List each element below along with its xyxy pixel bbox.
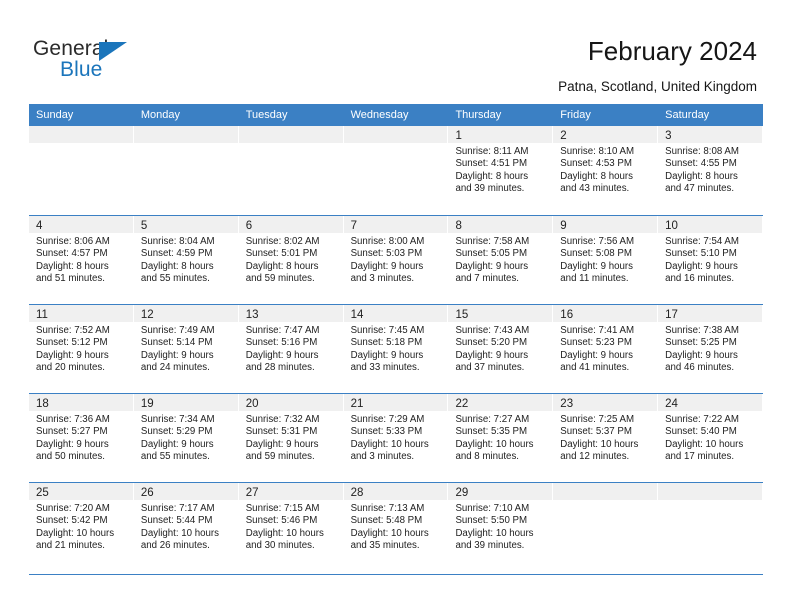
day-daylight-line1-text: Daylight: 10 hours (665, 439, 757, 451)
day-daylight-line1-text: Daylight: 9 hours (141, 350, 233, 362)
day-daylight-line2-text: and 26 minutes. (141, 540, 233, 552)
day-details: Sunrise: 7:15 AMSunset: 5:46 PMDaylight:… (239, 500, 343, 552)
day-number: 13 (246, 309, 259, 321)
day-number-band: 10 (658, 216, 762, 233)
day-details: Sunrise: 7:10 AMSunset: 5:50 PMDaylight:… (448, 500, 552, 552)
day-details: Sunrise: 7:34 AMSunset: 5:29 PMDaylight:… (134, 411, 238, 463)
day-number: 11 (36, 309, 48, 321)
day-number: 1 (455, 130, 461, 142)
day-number: 2 (560, 130, 566, 142)
calendar-day-cell[interactable]: 28Sunrise: 7:13 AMSunset: 5:48 PMDayligh… (344, 483, 449, 571)
day-number-band: 25 (29, 483, 133, 500)
calendar-day-cell-empty (553, 483, 658, 571)
day-daylight-line2-text: and 8 minutes. (455, 451, 547, 463)
day-sunrise-text: Sunrise: 7:41 AM (560, 325, 652, 337)
day-details: Sunrise: 7:43 AMSunset: 5:20 PMDaylight:… (448, 322, 552, 374)
calendar-page: General Blue February 2024 Patna, Scotla… (0, 0, 792, 612)
day-sunrise-text: Sunrise: 7:38 AM (665, 325, 757, 337)
day-daylight-line2-text: and 59 minutes. (246, 273, 338, 285)
day-daylight-line1-text: Daylight: 9 hours (560, 261, 652, 273)
day-number: 25 (36, 487, 49, 499)
day-daylight-line1-text: Daylight: 9 hours (665, 350, 757, 362)
day-sunset-text: Sunset: 5:16 PM (246, 337, 338, 349)
weekday-header-monday: Monday (134, 104, 239, 126)
day-daylight-line2-text: and 16 minutes. (665, 273, 757, 285)
calendar-day-cell[interactable]: 29Sunrise: 7:10 AMSunset: 5:50 PMDayligh… (448, 483, 553, 571)
day-sunrise-text: Sunrise: 7:54 AM (665, 236, 757, 248)
day-number-band: 11 (29, 305, 133, 322)
day-number-band (29, 126, 133, 143)
day-sunrise-text: Sunrise: 7:45 AM (351, 325, 443, 337)
day-sunset-text: Sunset: 5:37 PM (560, 426, 652, 438)
day-sunrise-text: Sunrise: 7:34 AM (141, 414, 233, 426)
day-sunrise-text: Sunrise: 7:29 AM (351, 414, 443, 426)
day-daylight-line1-text: Daylight: 8 hours (141, 261, 233, 273)
day-number-band: 19 (134, 394, 238, 411)
day-details: Sunrise: 8:11 AMSunset: 4:51 PMDaylight:… (448, 143, 552, 195)
calendar-day-cell[interactable]: 8Sunrise: 7:58 AMSunset: 5:05 PMDaylight… (448, 216, 553, 304)
calendar-day-cell[interactable]: 26Sunrise: 7:17 AMSunset: 5:44 PMDayligh… (134, 483, 239, 571)
day-number-band: 5 (134, 216, 238, 233)
day-sunset-text: Sunset: 5:50 PM (455, 515, 547, 527)
day-number-band: 3 (658, 126, 762, 143)
day-daylight-line2-text: and 28 minutes. (246, 362, 338, 374)
calendar-day-cell[interactable]: 18Sunrise: 7:36 AMSunset: 5:27 PMDayligh… (29, 394, 134, 482)
day-daylight-line2-text: and 12 minutes. (560, 451, 652, 463)
day-sunset-text: Sunset: 5:35 PM (455, 426, 547, 438)
day-number-band (239, 126, 343, 143)
day-number: 5 (141, 220, 147, 232)
logo-text-general: General (33, 38, 108, 60)
calendar-day-cell[interactable]: 23Sunrise: 7:25 AMSunset: 5:37 PMDayligh… (553, 394, 658, 482)
day-number: 22 (455, 398, 468, 410)
day-daylight-line2-text: and 46 minutes. (665, 362, 757, 374)
day-daylight-line1-text: Daylight: 9 hours (36, 350, 128, 362)
calendar-day-cell-empty (658, 483, 763, 571)
day-daylight-line2-text: and 21 minutes. (36, 540, 128, 552)
day-daylight-line2-text: and 7 minutes. (455, 273, 547, 285)
day-sunrise-text: Sunrise: 7:52 AM (36, 325, 128, 337)
day-sunrise-text: Sunrise: 8:02 AM (246, 236, 338, 248)
day-sunrise-text: Sunrise: 7:13 AM (351, 503, 443, 515)
day-details: Sunrise: 7:17 AMSunset: 5:44 PMDaylight:… (134, 500, 238, 552)
day-number-band: 9 (553, 216, 657, 233)
day-sunrise-text: Sunrise: 7:27 AM (455, 414, 547, 426)
day-number-band: 26 (134, 483, 238, 500)
calendar-day-cell[interactable]: 21Sunrise: 7:29 AMSunset: 5:33 PMDayligh… (344, 394, 449, 482)
calendar-day-cell[interactable]: 27Sunrise: 7:15 AMSunset: 5:46 PMDayligh… (239, 483, 344, 571)
calendar-weeks: 1Sunrise: 8:11 AMSunset: 4:51 PMDaylight… (29, 126, 763, 571)
day-sunrise-text: Sunrise: 8:10 AM (560, 146, 652, 158)
calendar-week-row: 4Sunrise: 8:06 AMSunset: 4:57 PMDaylight… (29, 215, 763, 304)
day-details: Sunrise: 7:47 AMSunset: 5:16 PMDaylight:… (239, 322, 343, 374)
day-daylight-line1-text: Daylight: 8 hours (455, 171, 547, 183)
day-details: Sunrise: 7:27 AMSunset: 5:35 PMDaylight:… (448, 411, 552, 463)
day-number: 27 (246, 487, 259, 499)
day-daylight-line2-text: and 3 minutes. (351, 273, 443, 285)
day-sunrise-text: Sunrise: 7:58 AM (455, 236, 547, 248)
calendar-day-cell[interactable]: 1Sunrise: 8:11 AMSunset: 4:51 PMDaylight… (448, 126, 553, 215)
day-daylight-line2-text: and 3 minutes. (351, 451, 443, 463)
day-sunrise-text: Sunrise: 8:06 AM (36, 236, 128, 248)
generalblue-logo[interactable]: General Blue (33, 38, 163, 84)
day-sunrise-text: Sunrise: 7:15 AM (246, 503, 338, 515)
day-sunset-text: Sunset: 5:01 PM (246, 248, 338, 260)
day-number-band: 12 (134, 305, 238, 322)
calendar-week-row: 11Sunrise: 7:52 AMSunset: 5:12 PMDayligh… (29, 304, 763, 393)
day-sunrise-text: Sunrise: 8:11 AM (455, 146, 547, 158)
calendar-day-cell-empty (344, 126, 449, 215)
calendar-week-row: 18Sunrise: 7:36 AMSunset: 5:27 PMDayligh… (29, 393, 763, 482)
day-daylight-line2-text: and 11 minutes. (560, 273, 652, 285)
page-subtitle: Patna, Scotland, United Kingdom (558, 79, 757, 94)
day-number: 28 (351, 487, 364, 499)
day-sunrise-text: Sunrise: 7:22 AM (665, 414, 757, 426)
day-daylight-line1-text: Daylight: 10 hours (36, 528, 128, 540)
day-daylight-line1-text: Daylight: 9 hours (246, 439, 338, 451)
day-sunrise-text: Sunrise: 8:08 AM (665, 146, 757, 158)
day-sunset-text: Sunset: 4:55 PM (665, 158, 757, 170)
day-number-band (553, 483, 657, 500)
day-sunset-text: Sunset: 5:31 PM (246, 426, 338, 438)
calendar-day-cell[interactable]: 19Sunrise: 7:34 AMSunset: 5:29 PMDayligh… (134, 394, 239, 482)
calendar-day-cell[interactable]: 12Sunrise: 7:49 AMSunset: 5:14 PMDayligh… (134, 305, 239, 393)
day-number-band: 6 (239, 216, 343, 233)
day-daylight-line1-text: Daylight: 9 hours (246, 350, 338, 362)
day-daylight-line2-text: and 35 minutes. (351, 540, 443, 552)
calendar-day-cell[interactable]: 3Sunrise: 8:08 AMSunset: 4:55 PMDaylight… (658, 126, 763, 215)
day-sunset-text: Sunset: 5:05 PM (455, 248, 547, 260)
day-daylight-line1-text: Daylight: 8 hours (560, 171, 652, 183)
day-daylight-line2-text: and 33 minutes. (351, 362, 443, 374)
day-details: Sunrise: 7:52 AMSunset: 5:12 PMDaylight:… (29, 322, 133, 374)
day-sunrise-text: Sunrise: 7:25 AM (560, 414, 652, 426)
day-daylight-line1-text: Daylight: 9 hours (455, 350, 547, 362)
calendar-day-cell[interactable]: 9Sunrise: 7:56 AMSunset: 5:08 PMDaylight… (553, 216, 658, 304)
day-daylight-line2-text: and 30 minutes. (246, 540, 338, 552)
day-daylight-line2-text: and 37 minutes. (455, 362, 547, 374)
day-number: 21 (351, 398, 364, 410)
day-daylight-line2-text: and 59 minutes. (246, 451, 338, 463)
weekday-header-friday: Friday (553, 104, 658, 126)
day-details: Sunrise: 8:08 AMSunset: 4:55 PMDaylight:… (658, 143, 762, 195)
day-sunset-text: Sunset: 5:20 PM (455, 337, 547, 349)
day-daylight-line1-text: Daylight: 9 hours (351, 350, 443, 362)
day-number: 29 (455, 487, 468, 499)
day-daylight-line2-text: and 17 minutes. (665, 451, 757, 463)
day-number: 14 (351, 309, 364, 321)
calendar-bottom-rule (29, 574, 763, 575)
day-details: Sunrise: 7:36 AMSunset: 5:27 PMDaylight:… (29, 411, 133, 463)
day-sunset-text: Sunset: 5:25 PM (665, 337, 757, 349)
day-number-band: 16 (553, 305, 657, 322)
day-number: 12 (141, 309, 154, 321)
calendar-week-row: 25Sunrise: 7:20 AMSunset: 5:42 PMDayligh… (29, 482, 763, 571)
day-number: 24 (665, 398, 678, 410)
day-sunset-text: Sunset: 5:27 PM (36, 426, 128, 438)
calendar-day-cell-empty (134, 126, 239, 215)
day-sunset-text: Sunset: 5:23 PM (560, 337, 652, 349)
day-daylight-line2-text: and 24 minutes. (141, 362, 233, 374)
day-details: Sunrise: 7:29 AMSunset: 5:33 PMDaylight:… (344, 411, 448, 463)
day-number-band: 2 (553, 126, 657, 143)
day-sunset-text: Sunset: 5:46 PM (246, 515, 338, 527)
calendar-day-cell[interactable]: 13Sunrise: 7:47 AMSunset: 5:16 PMDayligh… (239, 305, 344, 393)
day-sunset-text: Sunset: 5:40 PM (665, 426, 757, 438)
day-sunset-text: Sunset: 5:29 PM (141, 426, 233, 438)
day-number: 7 (351, 220, 357, 232)
calendar-day-cell-empty (239, 126, 344, 215)
day-details: Sunrise: 8:10 AMSunset: 4:53 PMDaylight:… (553, 143, 657, 195)
day-daylight-line2-text: and 50 minutes. (36, 451, 128, 463)
day-sunrise-text: Sunrise: 7:47 AM (246, 325, 338, 337)
day-sunset-text: Sunset: 5:03 PM (351, 248, 443, 260)
day-details: Sunrise: 7:56 AMSunset: 5:08 PMDaylight:… (553, 233, 657, 285)
day-sunrise-text: Sunrise: 7:36 AM (36, 414, 128, 426)
day-sunrise-text: Sunrise: 8:04 AM (141, 236, 233, 248)
weekday-header-saturday: Saturday (658, 104, 763, 126)
day-number-band: 22 (448, 394, 552, 411)
day-daylight-line2-text: and 55 minutes. (141, 451, 233, 463)
day-sunset-text: Sunset: 5:33 PM (351, 426, 443, 438)
day-details: Sunrise: 7:32 AMSunset: 5:31 PMDaylight:… (239, 411, 343, 463)
day-daylight-line2-text: and 41 minutes. (560, 362, 652, 374)
day-details: Sunrise: 7:58 AMSunset: 5:05 PMDaylight:… (448, 233, 552, 285)
day-sunrise-text: Sunrise: 7:17 AM (141, 503, 233, 515)
day-daylight-line1-text: Daylight: 8 hours (665, 171, 757, 183)
day-number-band (134, 126, 238, 143)
day-sunset-text: Sunset: 5:42 PM (36, 515, 128, 527)
day-daylight-line1-text: Daylight: 10 hours (455, 439, 547, 451)
day-details: Sunrise: 8:00 AMSunset: 5:03 PMDaylight:… (344, 233, 448, 285)
day-daylight-line1-text: Daylight: 10 hours (455, 528, 547, 540)
day-number: 6 (246, 220, 252, 232)
calendar-day-cell[interactable]: 20Sunrise: 7:32 AMSunset: 5:31 PMDayligh… (239, 394, 344, 482)
day-number-band: 4 (29, 216, 133, 233)
day-sunset-text: Sunset: 5:12 PM (36, 337, 128, 349)
day-details: Sunrise: 7:22 AMSunset: 5:40 PMDaylight:… (658, 411, 762, 463)
day-sunset-text: Sunset: 4:57 PM (36, 248, 128, 260)
day-daylight-line1-text: Daylight: 8 hours (246, 261, 338, 273)
day-number-band: 14 (344, 305, 448, 322)
weekday-header-row: SundayMondayTuesdayWednesdayThursdayFrid… (29, 104, 763, 126)
weekday-header-wednesday: Wednesday (344, 104, 449, 126)
day-number-band: 7 (344, 216, 448, 233)
weekday-header-sunday: Sunday (29, 104, 134, 126)
day-number-band (344, 126, 448, 143)
day-number: 23 (560, 398, 573, 410)
day-details: Sunrise: 8:04 AMSunset: 4:59 PMDaylight:… (134, 233, 238, 285)
day-sunrise-text: Sunrise: 7:49 AM (141, 325, 233, 337)
day-daylight-line2-text: and 39 minutes. (455, 183, 547, 195)
day-number: 20 (246, 398, 259, 410)
day-number: 4 (36, 220, 42, 232)
calendar-day-cell[interactable]: 24Sunrise: 7:22 AMSunset: 5:40 PMDayligh… (658, 394, 763, 482)
calendar-day-cell[interactable]: 11Sunrise: 7:52 AMSunset: 5:12 PMDayligh… (29, 305, 134, 393)
calendar-day-cell[interactable]: 7Sunrise: 8:00 AMSunset: 5:03 PMDaylight… (344, 216, 449, 304)
calendar-day-cell[interactable]: 14Sunrise: 7:45 AMSunset: 5:18 PMDayligh… (344, 305, 449, 393)
calendar-day-cell[interactable]: 25Sunrise: 7:20 AMSunset: 5:42 PMDayligh… (29, 483, 134, 571)
page-title: February 2024 (588, 36, 757, 67)
day-number-band: 23 (553, 394, 657, 411)
day-number-band: 24 (658, 394, 762, 411)
day-sunset-text: Sunset: 5:10 PM (665, 248, 757, 260)
day-sunset-text: Sunset: 5:48 PM (351, 515, 443, 527)
day-number-band: 1 (448, 126, 552, 143)
day-number: 16 (560, 309, 573, 321)
day-daylight-line2-text: and 47 minutes. (665, 183, 757, 195)
day-daylight-line1-text: Daylight: 10 hours (560, 439, 652, 451)
calendar-day-cell-empty (29, 126, 134, 215)
calendar-day-cell[interactable]: 6Sunrise: 8:02 AMSunset: 5:01 PMDaylight… (239, 216, 344, 304)
day-sunset-text: Sunset: 4:59 PM (141, 248, 233, 260)
day-sunrise-text: Sunrise: 7:10 AM (455, 503, 547, 515)
day-daylight-line1-text: Daylight: 10 hours (351, 528, 443, 540)
day-daylight-line2-text: and 20 minutes. (36, 362, 128, 374)
day-details: Sunrise: 7:49 AMSunset: 5:14 PMDaylight:… (134, 322, 238, 374)
day-daylight-line1-text: Daylight: 9 hours (36, 439, 128, 451)
day-sunset-text: Sunset: 5:08 PM (560, 248, 652, 260)
day-daylight-line1-text: Daylight: 10 hours (351, 439, 443, 451)
day-sunrise-text: Sunrise: 7:20 AM (36, 503, 128, 515)
day-details: Sunrise: 7:38 AMSunset: 5:25 PMDaylight:… (658, 322, 762, 374)
day-sunset-text: Sunset: 5:44 PM (141, 515, 233, 527)
day-daylight-line1-text: Daylight: 8 hours (36, 261, 128, 273)
day-number: 8 (455, 220, 461, 232)
day-number-band: 18 (29, 394, 133, 411)
day-number-band: 21 (344, 394, 448, 411)
calendar-day-cell[interactable]: 2Sunrise: 8:10 AMSunset: 4:53 PMDaylight… (553, 126, 658, 215)
calendar-day-cell[interactable]: 22Sunrise: 7:27 AMSunset: 5:35 PMDayligh… (448, 394, 553, 482)
day-daylight-line1-text: Daylight: 9 hours (455, 261, 547, 273)
calendar-day-cell[interactable]: 4Sunrise: 8:06 AMSunset: 4:57 PMDaylight… (29, 216, 134, 304)
day-daylight-line1-text: Daylight: 9 hours (141, 439, 233, 451)
day-number: 17 (665, 309, 678, 321)
day-daylight-line1-text: Daylight: 9 hours (665, 261, 757, 273)
day-sunset-text: Sunset: 5:14 PM (141, 337, 233, 349)
day-details: Sunrise: 7:54 AMSunset: 5:10 PMDaylight:… (658, 233, 762, 285)
day-sunset-text: Sunset: 5:18 PM (351, 337, 443, 349)
logo-text-blue: Blue (60, 59, 102, 81)
day-sunset-text: Sunset: 4:51 PM (455, 158, 547, 170)
day-number: 3 (665, 130, 671, 142)
day-number: 10 (665, 220, 678, 232)
day-number-band: 13 (239, 305, 343, 322)
calendar-day-cell[interactable]: 10Sunrise: 7:54 AMSunset: 5:10 PMDayligh… (658, 216, 763, 304)
day-details: Sunrise: 7:20 AMSunset: 5:42 PMDaylight:… (29, 500, 133, 552)
day-number-band: 15 (448, 305, 552, 322)
calendar-grid: SundayMondayTuesdayWednesdayThursdayFrid… (29, 104, 763, 571)
day-number-band (658, 483, 762, 500)
day-daylight-line1-text: Daylight: 10 hours (246, 528, 338, 540)
weekday-header-thursday: Thursday (448, 104, 553, 126)
day-daylight-line2-text: and 55 minutes. (141, 273, 233, 285)
weekday-header-tuesday: Tuesday (239, 104, 344, 126)
calendar-day-cell[interactable]: 17Sunrise: 7:38 AMSunset: 5:25 PMDayligh… (658, 305, 763, 393)
day-number: 19 (141, 398, 154, 410)
calendar-day-cell[interactable]: 15Sunrise: 7:43 AMSunset: 5:20 PMDayligh… (448, 305, 553, 393)
day-number: 26 (141, 487, 154, 499)
page-header: General Blue February 2024 Patna, Scotla… (0, 0, 792, 104)
calendar-week-row: 1Sunrise: 8:11 AMSunset: 4:51 PMDaylight… (29, 126, 763, 215)
day-details: Sunrise: 7:25 AMSunset: 5:37 PMDaylight:… (553, 411, 657, 463)
day-number: 18 (36, 398, 49, 410)
day-details: Sunrise: 8:02 AMSunset: 5:01 PMDaylight:… (239, 233, 343, 285)
day-sunset-text: Sunset: 4:53 PM (560, 158, 652, 170)
day-details: Sunrise: 7:13 AMSunset: 5:48 PMDaylight:… (344, 500, 448, 552)
day-daylight-line1-text: Daylight: 9 hours (560, 350, 652, 362)
day-daylight-line2-text: and 51 minutes. (36, 273, 128, 285)
day-daylight-line2-text: and 39 minutes. (455, 540, 547, 552)
day-number: 9 (560, 220, 566, 232)
day-number-band: 20 (239, 394, 343, 411)
day-sunrise-text: Sunrise: 7:32 AM (246, 414, 338, 426)
day-sunrise-text: Sunrise: 8:00 AM (351, 236, 443, 248)
day-details: Sunrise: 7:45 AMSunset: 5:18 PMDaylight:… (344, 322, 448, 374)
calendar-day-cell[interactable]: 16Sunrise: 7:41 AMSunset: 5:23 PMDayligh… (553, 305, 658, 393)
day-number-band: 27 (239, 483, 343, 500)
day-number: 15 (455, 309, 468, 321)
day-number-band: 29 (448, 483, 552, 500)
day-number-band: 8 (448, 216, 552, 233)
logo-triangle-icon (99, 42, 127, 61)
day-sunrise-text: Sunrise: 7:43 AM (455, 325, 547, 337)
day-details: Sunrise: 7:41 AMSunset: 5:23 PMDaylight:… (553, 322, 657, 374)
day-number-band: 17 (658, 305, 762, 322)
day-daylight-line1-text: Daylight: 9 hours (351, 261, 443, 273)
day-number-band: 28 (344, 483, 448, 500)
day-sunrise-text: Sunrise: 7:56 AM (560, 236, 652, 248)
day-daylight-line1-text: Daylight: 10 hours (141, 528, 233, 540)
calendar-day-cell[interactable]: 5Sunrise: 8:04 AMSunset: 4:59 PMDaylight… (134, 216, 239, 304)
day-details: Sunrise: 8:06 AMSunset: 4:57 PMDaylight:… (29, 233, 133, 285)
day-daylight-line2-text: and 43 minutes. (560, 183, 652, 195)
